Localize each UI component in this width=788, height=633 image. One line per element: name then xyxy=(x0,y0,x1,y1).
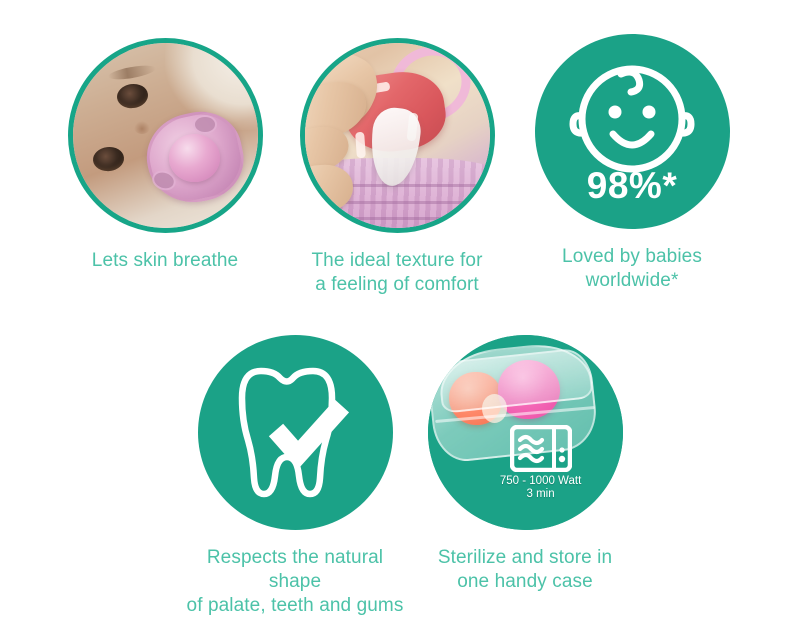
tooth-check-icon xyxy=(198,335,393,530)
microwave-badge: 750 - 1000 Watt 3 min xyxy=(498,425,584,501)
circle-wrapper: 98%* xyxy=(535,34,730,229)
feature-sterilize-store[interactable]: 750 - 1000 Watt 3 min Sterilize and stor… xyxy=(410,335,640,594)
feature-caption: Sterilize and store in one handy case xyxy=(410,546,640,594)
microwave-instructions: 750 - 1000 Watt 3 min xyxy=(498,475,584,501)
percentage-badge: 98%* xyxy=(535,165,730,207)
microwave-icon xyxy=(510,425,572,472)
feature-ideal-texture[interactable]: The ideal texture for a feeling of comfo… xyxy=(282,38,512,297)
hand-holding-pacifier-photo xyxy=(300,38,495,233)
pacifier-hole xyxy=(195,117,215,132)
feature-loved-by-babies[interactable]: 98%* Loved by babies worldwide* xyxy=(517,34,747,293)
circle-wrapper: 750 - 1000 Watt 3 min xyxy=(428,335,623,530)
feature-caption: The ideal texture for a feeling of comfo… xyxy=(282,249,512,297)
pacifier-knob xyxy=(169,134,221,182)
baby-nose xyxy=(134,121,151,134)
tooth-check-icon-circle xyxy=(198,335,393,530)
feature-lets-skin-breathe[interactable]: Lets skin breathe xyxy=(50,38,280,273)
circle-wrapper xyxy=(68,38,263,233)
sterilizer-case-photo: 750 - 1000 Watt 3 min xyxy=(428,335,623,530)
benefits-board: Lets skin breathe xyxy=(0,0,788,633)
circle-wrapper xyxy=(300,38,495,233)
baby-face-icon-circle: 98%* xyxy=(535,34,730,229)
baby-eye-left xyxy=(608,106,621,119)
baby-with-pacifier-photo xyxy=(68,38,263,233)
checkmark-icon xyxy=(276,406,342,455)
circle-wrapper xyxy=(198,335,393,530)
feature-caption: Respects the natural shape of palate, te… xyxy=(180,546,410,618)
feature-natural-shape[interactable]: Respects the natural shape of palate, te… xyxy=(180,335,410,618)
baby-eye-right xyxy=(642,106,655,119)
feature-caption: Lets skin breathe xyxy=(50,249,280,273)
feature-caption: Loved by babies worldwide* xyxy=(517,245,747,293)
